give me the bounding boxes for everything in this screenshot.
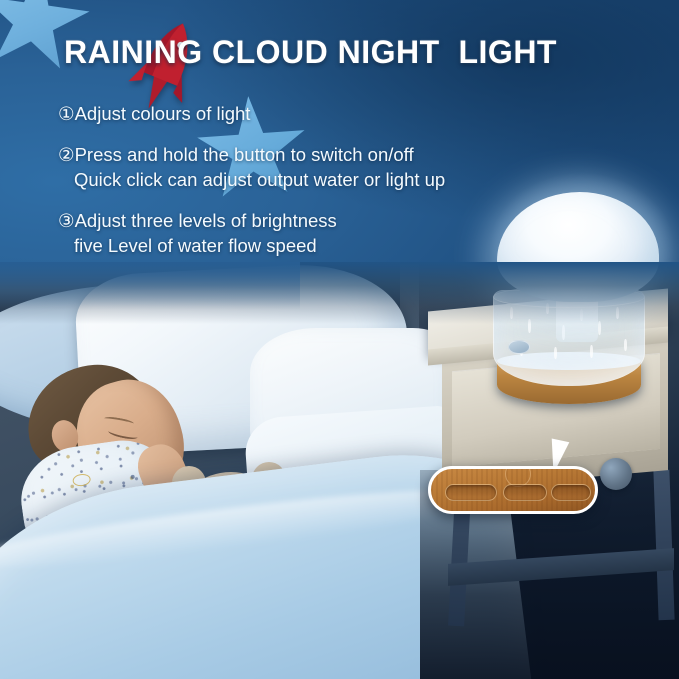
button-slot-3[interactable]: [551, 484, 591, 501]
feature-item-2: ②Press and hold the button to switch on/…: [58, 143, 578, 192]
product-tank-button[interactable]: [508, 340, 530, 354]
button-slot-1[interactable]: [445, 484, 497, 501]
feature-line: ②Press and hold the button to switch on/…: [58, 143, 578, 167]
feature-item-1: ①Adjust colours of light: [58, 102, 578, 126]
banner-photo-blend-left: [0, 262, 300, 310]
feature-line: five Level of water flow speed: [58, 234, 578, 258]
control-panel-callout[interactable]: [428, 466, 598, 514]
drawer-knob: [600, 458, 632, 490]
product-banner: RAINING CLOUD NIGHT LIGHT ①Adjust colour…: [0, 0, 679, 679]
page-title: RAINING CLOUD NIGHT LIGHT: [64, 34, 557, 71]
feature-line: Quick click can adjust output water or l…: [58, 168, 578, 192]
feature-line: ③Adjust three levels of brightness: [58, 209, 578, 233]
feature-item-3: ③Adjust three levels of brightness five …: [58, 209, 578, 258]
feature-line: ①Adjust colours of light: [58, 102, 578, 126]
feature-list: ①Adjust colours of light ②Press and hold…: [58, 102, 578, 275]
button-slot-2[interactable]: [503, 484, 547, 501]
